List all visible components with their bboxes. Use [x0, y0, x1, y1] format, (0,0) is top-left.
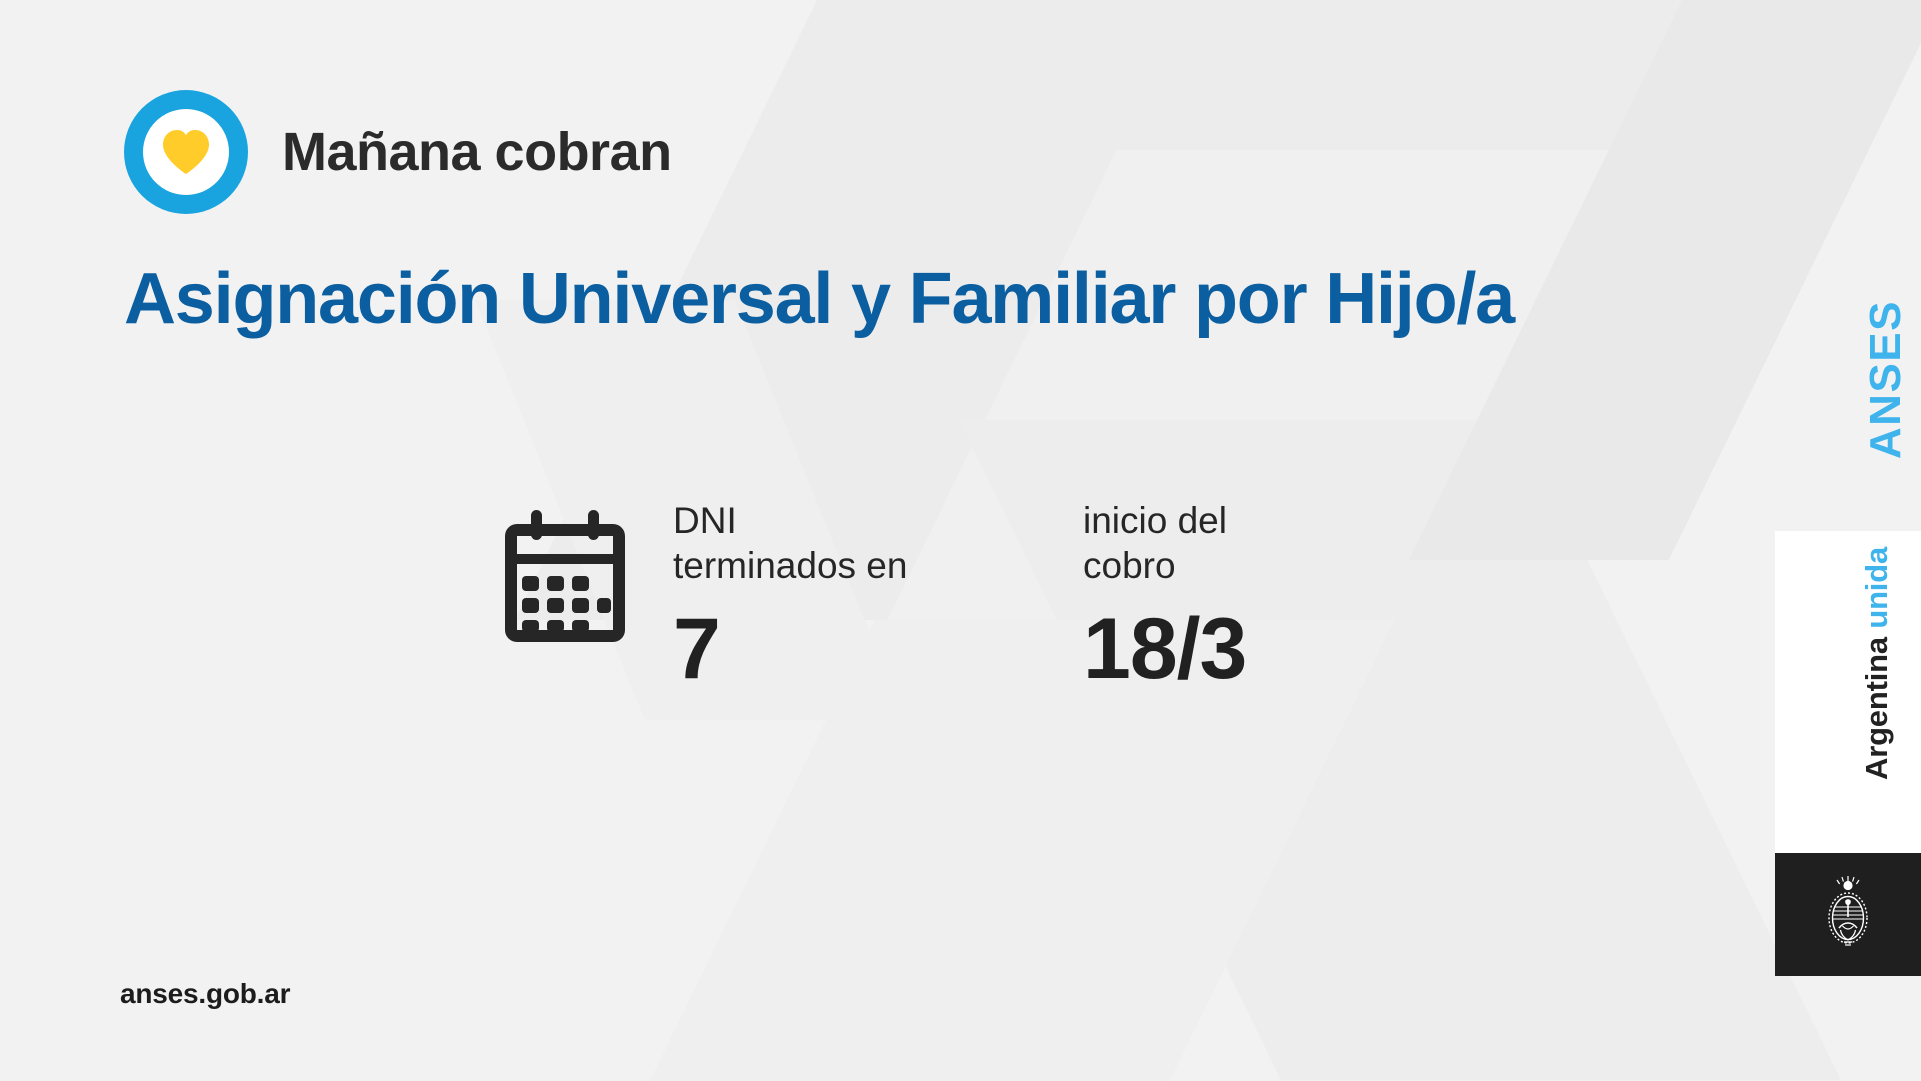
payment-info-strip: DNI terminados en 7 inicio del cobro 18/… [505, 498, 1463, 692]
heart-badge-inner [143, 109, 229, 195]
argentina-unida-wordmark: Argentina unida [1859, 547, 1895, 780]
crest-box [1775, 853, 1921, 976]
poster-canvas: Mañana cobran Asignación Universal y Fam… [0, 0, 1921, 1081]
government-card: Argentina unida [1775, 531, 1921, 853]
anses-wordmark: ANSES [1861, 300, 1911, 459]
info-label: inicio del cobro [1083, 498, 1463, 588]
heart-icon [160, 128, 212, 176]
info-value-fecha: 18/3 [1083, 606, 1463, 692]
unida-word: unida [1859, 547, 1894, 629]
footer-url[interactable]: anses.gob.ar [120, 978, 290, 1010]
eyebrow-text: Mañana cobran [282, 121, 672, 183]
heart-badge [124, 90, 248, 214]
info-column-fecha: inicio del cobro 18/3 [1083, 498, 1463, 692]
argentina-coat-of-arms-icon [1820, 874, 1876, 956]
info-column-dni: DNI terminados en 7 [673, 498, 1083, 692]
brand-rail: ANSES Argentina unida [1775, 0, 1921, 1081]
info-value-dni: 7 [673, 606, 1083, 692]
page-title: Asignación Universal y Familiar por Hijo… [124, 258, 1514, 340]
header: Mañana cobran [124, 90, 672, 214]
argentina-word: Argentina [1859, 637, 1894, 780]
calendar-icon [505, 498, 673, 642]
info-label: DNI terminados en [673, 498, 1083, 588]
